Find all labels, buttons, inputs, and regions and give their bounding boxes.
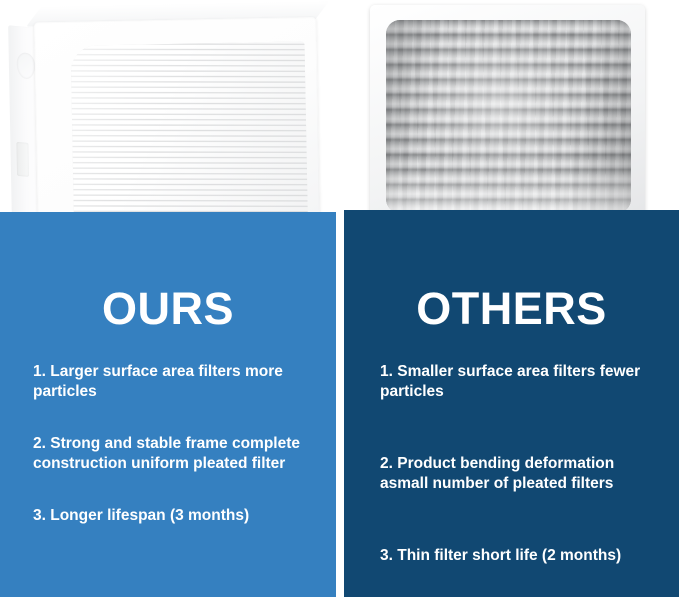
gray-filter-highlight-band (386, 163, 631, 213)
drawback-item: 1. Smaller surface area filters fewer pa… (380, 362, 665, 402)
filter-front-face (34, 17, 320, 236)
benefit-item: 3. Longer lifespan (3 months) (33, 506, 312, 526)
panel-ours: OURS 1. Larger surface area filters more… (0, 212, 336, 597)
drawback-list-others: 1. Smaller surface area filters fewer pa… (380, 362, 665, 566)
gray-filter-frame (370, 5, 645, 226)
filter-pleat-window (71, 41, 308, 221)
panel-divider (336, 205, 344, 597)
hepa-filter-illustration (8, 1, 322, 239)
product-image-ours (0, 0, 340, 240)
benefit-item: 2. Strong and stable frame complete cons… (33, 434, 312, 474)
heading-others: OTHERS (344, 286, 679, 331)
benefit-item: 1. Larger surface area filters more part… (33, 362, 312, 402)
drawback-item: 3. Thin filter short life (2 months) (380, 546, 665, 566)
panel-others: OTHERS 1. Smaller surface area filters f… (344, 210, 679, 597)
filter-side-tab (16, 142, 29, 177)
comparison-infographic: OURS 1. Larger surface area filters more… (0, 0, 679, 597)
filter-window-shading (71, 41, 308, 221)
product-image-others (340, 0, 679, 240)
gray-filter-illustration (370, 5, 645, 226)
brand-emboss-icon (17, 52, 36, 80)
gray-filter-media (386, 20, 631, 213)
drawback-item: 2. Product bending deformation asmall nu… (380, 454, 665, 494)
benefit-list-ours: 1. Larger surface area filters more part… (33, 362, 312, 526)
heading-ours: OURS (0, 286, 336, 331)
